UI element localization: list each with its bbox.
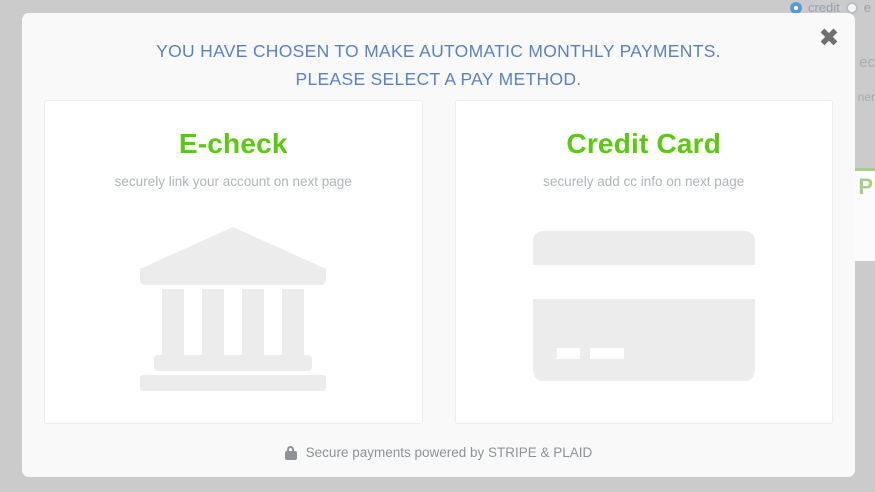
bank-column <box>282 289 304 361</box>
credit-card-number-dash <box>557 348 580 359</box>
bank-roof <box>140 227 326 269</box>
modal-heading: YOU HAVE CHOSEN TO MAKE AUTOMATIC MONTHL… <box>22 13 855 93</box>
bank-sill <box>154 355 312 371</box>
background-text-fragment-top: ec <box>859 54 875 71</box>
bank-columns <box>162 289 304 361</box>
lock-icon <box>285 446 297 460</box>
bank-base <box>140 375 326 391</box>
modal-footer: Secure payments powered by STRIPE & PLAI… <box>22 445 855 460</box>
bank-column <box>242 289 264 361</box>
bank-entablature <box>140 268 326 285</box>
close-icon[interactable]: ✖ <box>815 24 843 52</box>
pay-method-credit-card-art <box>456 189 833 423</box>
bank-icon <box>140 227 326 385</box>
pay-method-credit-card[interactable]: Credit Card securely add cc info on next… <box>455 100 834 424</box>
credit-card-top-band <box>533 231 755 265</box>
heading-line-2: PLEASE SELECT A PAY METHOD. <box>22 65 855 93</box>
pay-method-credit-card-subtitle: securely add cc info on next page <box>543 174 744 189</box>
background-text-fragment-mid: ner <box>858 90 875 104</box>
pay-method-echeck-title: E-check <box>179 128 288 160</box>
credit-card-icon <box>533 231 755 381</box>
radio-credit[interactable] <box>790 2 802 14</box>
bank-column <box>162 289 184 361</box>
pay-method-list: E-check securely link your account on ne… <box>44 100 833 424</box>
pay-method-echeck[interactable]: E-check securely link your account on ne… <box>44 100 423 424</box>
pay-method-modal: ✖ YOU HAVE CHOSEN TO MAKE AUTOMATIC MONT… <box>22 13 855 477</box>
pay-method-credit-card-title: Credit Card <box>566 128 721 160</box>
radio-echeck-label: e <box>864 0 871 15</box>
credit-card-number-dash <box>590 348 624 359</box>
radio-echeck[interactable] <box>846 2 858 14</box>
background-panel-letter: P <box>858 174 873 200</box>
bank-column <box>202 289 224 361</box>
secure-payments-text: Secure payments powered by STRIPE & PLAI… <box>306 445 593 460</box>
pay-method-echeck-art <box>45 189 422 423</box>
heading-line-1: YOU HAVE CHOSEN TO MAKE AUTOMATIC MONTHL… <box>22 37 855 65</box>
pay-method-echeck-subtitle: securely link your account on next page <box>115 174 352 189</box>
credit-card-body <box>533 299 755 381</box>
